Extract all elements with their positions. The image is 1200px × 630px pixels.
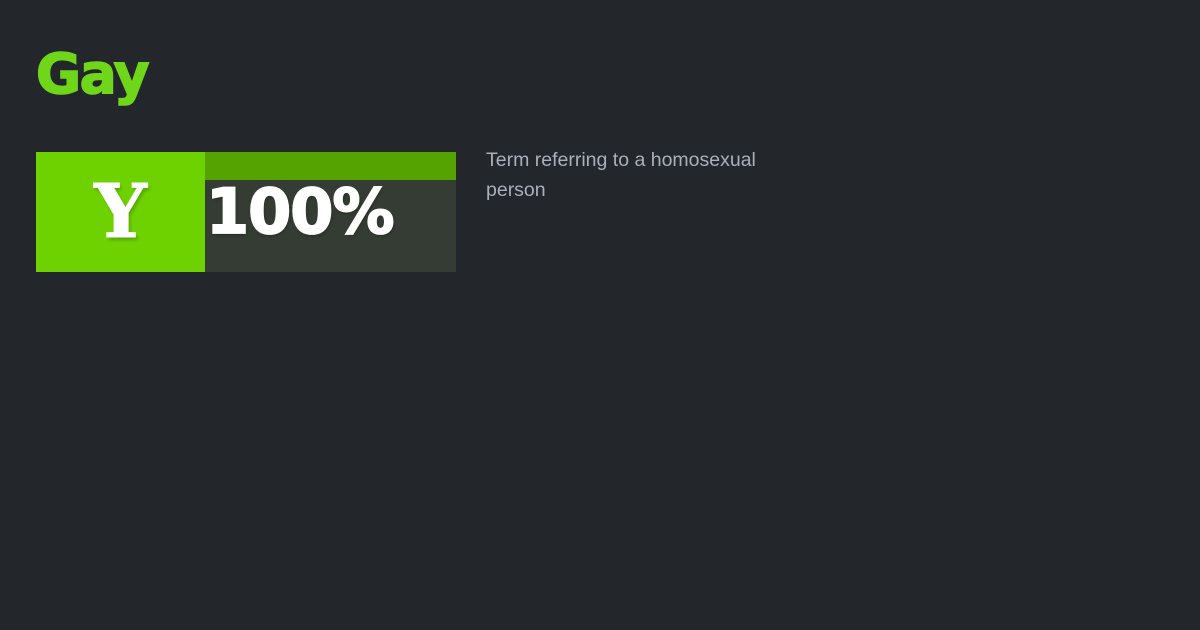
rating-card: Y 100% Term referring to a homosexual pe… (36, 152, 1164, 292)
page-title: Gay (36, 47, 148, 102)
badge-verdict-letter: Y (94, 175, 147, 249)
term-description: Term referring to a homosexual person (486, 145, 816, 205)
rating-badge: Y 100% (36, 152, 456, 272)
rating-card-page: Gay Y 100% Term referring to a homosexua… (0, 0, 1200, 630)
badge-percent-cell: 100% (205, 152, 456, 272)
badge-percent-label: 100% (205, 152, 456, 272)
badge-verdict-cell: Y (36, 152, 205, 272)
